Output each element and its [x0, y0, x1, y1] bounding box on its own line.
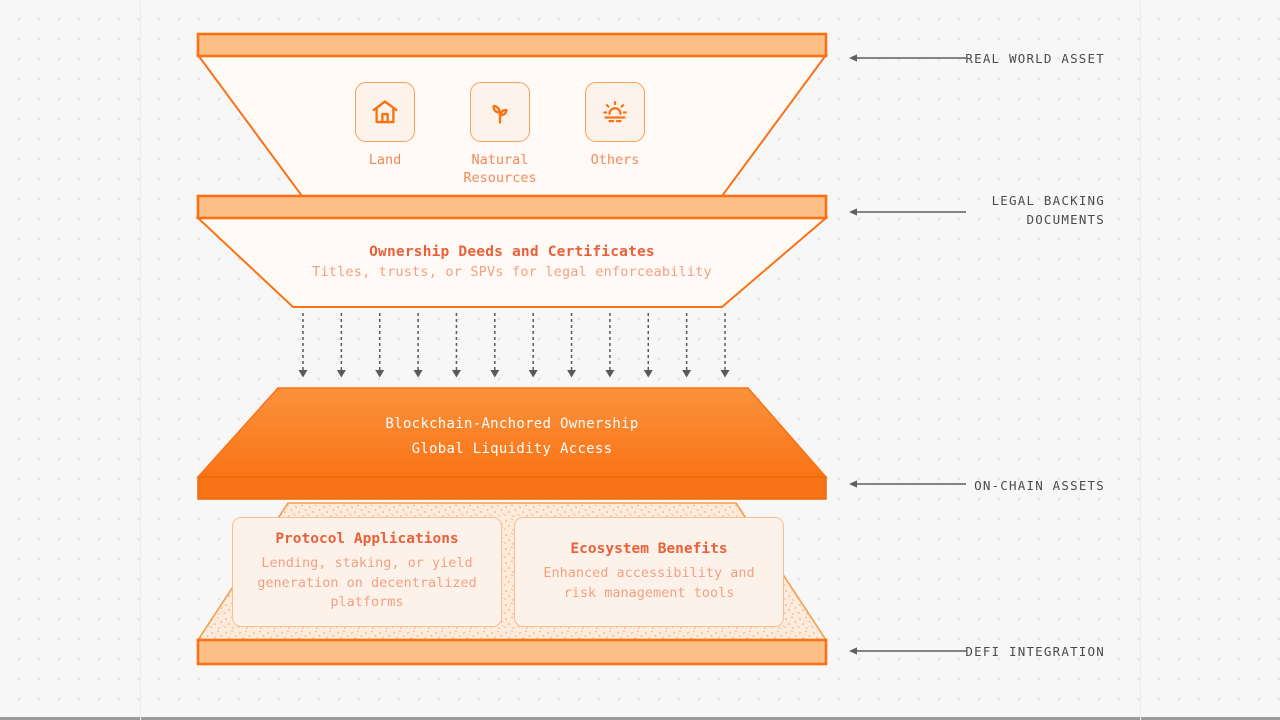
- connector-arrowhead: [414, 370, 423, 378]
- sprout-icon: [470, 82, 530, 142]
- annotation-arrowhead: [849, 54, 857, 61]
- dotted-connectors: [299, 313, 730, 378]
- real-world-asset-icons: Land Natural Resources: [355, 82, 645, 187]
- annotation-legal-backing-documents: LEGAL BACKING DOCUMENTS: [885, 192, 1105, 230]
- sunrise-icon: [585, 82, 645, 142]
- annotation-defi-integration: DEFI INTEGRATION: [885, 643, 1105, 662]
- diagram-canvas: Land Natural Resources: [0, 0, 1280, 720]
- onchain-line-2: Global Liquidity Access: [198, 440, 826, 459]
- rwa-top-slab: [198, 34, 826, 56]
- connector-arrowhead: [452, 370, 461, 378]
- defi-bottom-slab: [198, 640, 826, 664]
- icon-cell-land[interactable]: Land: [355, 82, 415, 169]
- connector-arrowhead: [375, 370, 384, 378]
- connector-arrowhead: [682, 370, 691, 378]
- connector-arrowhead: [337, 370, 346, 378]
- connector-arrowhead: [721, 370, 730, 378]
- legal-heading: Ownership Deeds and Certificates: [198, 243, 826, 263]
- legal-top-slab: [198, 196, 826, 218]
- card-protocol-applications[interactable]: Protocol Applications Lending, staking, …: [232, 517, 502, 627]
- connector-arrowhead: [299, 370, 308, 378]
- connector-arrowhead: [529, 370, 538, 378]
- left-gutter-rule: [140, 0, 141, 720]
- connector-arrowhead: [567, 370, 576, 378]
- icon-cell-others[interactable]: Others: [585, 82, 645, 169]
- icon-cell-natural-resources[interactable]: Natural Resources: [470, 82, 530, 187]
- card-title-ecosystem-benefits: Ecosystem Benefits: [570, 541, 727, 557]
- connector-arrowhead: [605, 370, 614, 378]
- annotation-on-chain-assets: ON-CHAIN ASSETS: [885, 477, 1105, 496]
- card-title-protocol-applications: Protocol Applications: [275, 531, 458, 547]
- onchain-line-1: Blockchain-Anchored Ownership: [198, 415, 826, 434]
- icon-label-others: Others: [591, 151, 640, 169]
- onchain-front-slab: [198, 477, 826, 499]
- connector-arrowhead: [490, 370, 499, 378]
- annotation-arrowhead: [849, 647, 857, 654]
- legal-subtitle: Titles, trusts, or SPVs for legal enforc…: [198, 263, 826, 281]
- card-body-ecosystem-benefits: Enhanced accessibility and risk manageme…: [543, 564, 754, 603]
- connector-arrowhead: [644, 370, 653, 378]
- house-icon: [355, 82, 415, 142]
- icon-label-land: Land: [369, 151, 402, 169]
- icon-label-natural-resources: Natural Resources: [463, 151, 536, 187]
- annotation-real-world-asset: REAL WORLD ASSET: [885, 50, 1105, 69]
- card-ecosystem-benefits[interactable]: Ecosystem Benefits Enhanced accessibilit…: [514, 517, 784, 627]
- card-body-protocol-applications: Lending, staking, or yield generation on…: [257, 554, 476, 613]
- annotation-arrows: [849, 54, 966, 654]
- annotation-arrowhead: [849, 480, 857, 487]
- annotation-arrowhead: [849, 208, 857, 215]
- right-gutter-rule: [1140, 0, 1141, 720]
